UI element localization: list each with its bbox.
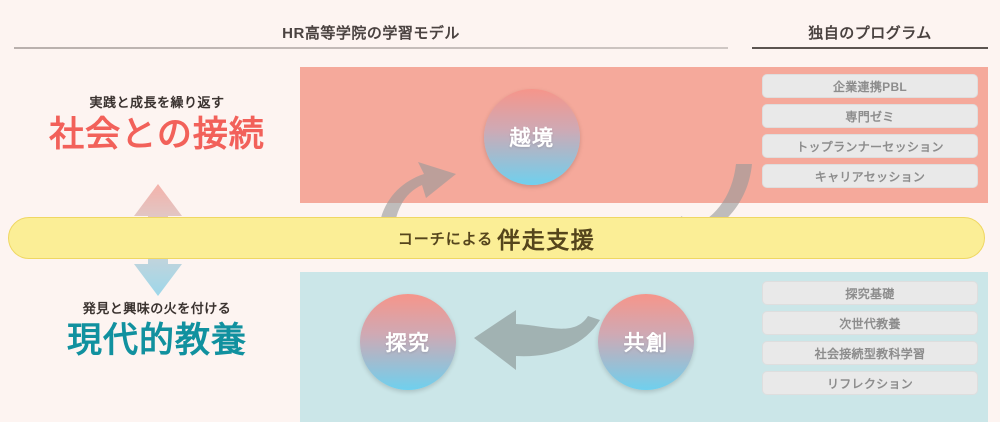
label-social-connection-title: 社会との接続 — [22, 115, 292, 155]
circle-tankyu[interactable]: 探究 — [360, 294, 456, 390]
curved-arrow-left-icon — [468, 308, 604, 372]
banner-small-text: コーチによる — [398, 228, 494, 249]
program-item[interactable]: キャリアセッション — [762, 164, 978, 188]
label-modern-liberal-arts-subtitle: 発見と興味の火を付ける — [22, 298, 292, 317]
program-item[interactable]: 専門ゼミ — [762, 104, 978, 128]
circle-ekkyo[interactable]: 越境 — [484, 89, 580, 185]
program-item[interactable]: 探究基礎 — [762, 281, 978, 305]
banner-large-text: 伴走支援 — [497, 221, 595, 255]
label-social-connection: 実践と成長を繰り返す 社会との接続 — [22, 92, 292, 155]
circle-tankyu-label: 探究 — [386, 327, 431, 357]
program-list-bottom: 探究基礎 次世代教養 社会接続型教科学習 リフレクション — [762, 281, 978, 395]
program-item[interactable]: 次世代教養 — [762, 311, 978, 335]
header-model-title: HR高等学院の学習モデル — [14, 22, 728, 43]
program-item[interactable]: 社会接続型教科学習 — [762, 341, 978, 365]
header-program-title: 独自のプログラム — [752, 22, 988, 43]
circle-ekkyo-label: 越境 — [510, 122, 555, 152]
program-list-top: 企業連携PBL 専門ゼミ トップランナーセッション キャリアセッション — [762, 74, 978, 188]
program-item[interactable]: 企業連携PBL — [762, 74, 978, 98]
label-modern-liberal-arts-title: 現代的教養 — [22, 321, 292, 361]
header-model-rule — [14, 47, 728, 49]
label-social-connection-subtitle: 実践と成長を繰り返す — [22, 92, 292, 111]
header-program-rule — [752, 47, 988, 49]
circle-kyoso-label: 共創 — [624, 327, 669, 357]
circle-kyoso[interactable]: 共創 — [598, 294, 694, 390]
program-item[interactable]: トップランナーセッション — [762, 134, 978, 158]
label-modern-liberal-arts: 発見と興味の火を付ける 現代的教養 — [22, 298, 292, 361]
diagram-canvas: HR高等学院の学習モデル 独自のプログラム 実践と成長を繰り返す 社会との接続 … — [0, 0, 1000, 422]
coach-support-banner: コーチによる 伴走支援 — [8, 217, 985, 259]
program-item[interactable]: リフレクション — [762, 371, 978, 395]
